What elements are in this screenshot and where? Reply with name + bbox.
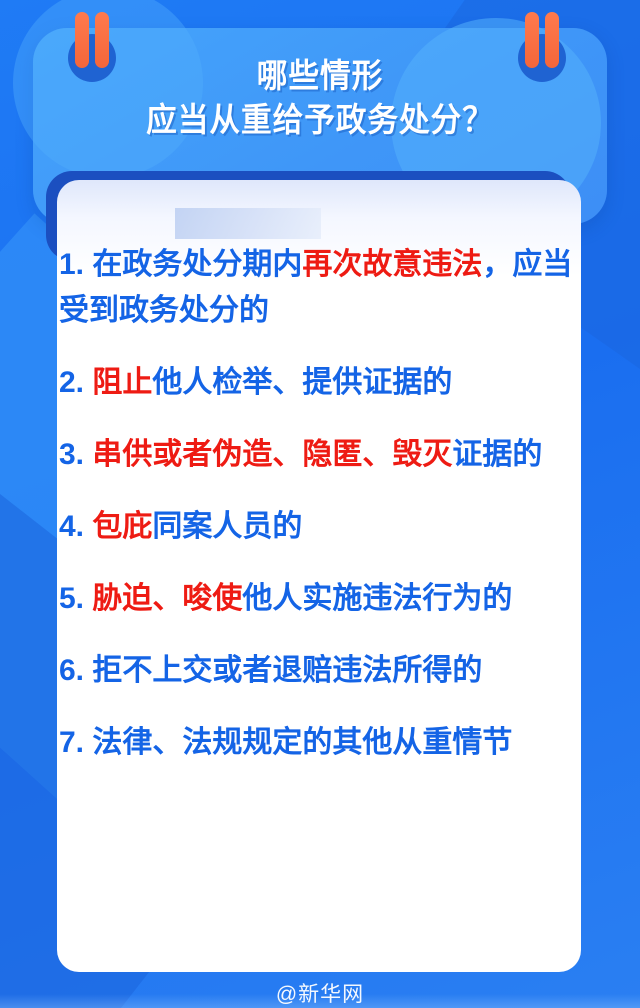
list-item-number: 6. — [59, 654, 84, 687]
list-item-number: 2. — [59, 366, 84, 399]
list-item-text: 他人实施违法行为的 — [242, 582, 512, 615]
list-item-number: 1. — [59, 248, 84, 281]
list-item: 3. 串供或者伪造、隐匿、毁灭证据的 — [59, 432, 579, 478]
list-item-number: 3. — [59, 438, 84, 471]
provisions-list: 1. 在政务处分期内再次故意违法，应当受到政务处分的2. 阻止他人检举、提供证据… — [59, 242, 579, 766]
list-item-text: 法律、法规规定的其他从重情节 — [84, 726, 512, 759]
list-item: 6. 拒不上交或者退赔违法所得的 — [59, 648, 579, 694]
list-item-text: 同案人员的 — [152, 510, 302, 543]
list-item-highlight-text: 阻止 — [92, 366, 152, 399]
list-item-highlight-text: 再次故意违法 — [302, 248, 482, 281]
list-item-number: 7. — [59, 726, 84, 759]
list-item: 7. 法律、法规规定的其他从重情节 — [59, 720, 579, 766]
list-item-number: 4. — [59, 510, 84, 543]
card-placeholder-block — [175, 208, 321, 239]
list-item: 1. 在政务处分期内再次故意违法，应当受到政务处分的 — [59, 242, 579, 334]
list-item-highlight-text: 串供或者伪造、隐匿、毁灭 — [92, 438, 452, 471]
list-item-highlight-text: 胁迫、唆使 — [92, 582, 242, 615]
list-item: 2. 阻止他人检举、提供证据的 — [59, 360, 579, 406]
watermark-label: @新华网 — [0, 978, 640, 1008]
title-line-1: 哪些情形 — [22, 54, 617, 98]
list-item-text: 证据的 — [452, 438, 542, 471]
list-item-text: 拒不上交或者退赔违法所得的 — [84, 654, 482, 687]
list-item-text: 在政务处分期内 — [84, 248, 302, 281]
infographic-poster: 哪些情形 应当从重给予政务处分？ 1. 在政务处分期内再次故意违法，应当受到政务… — [0, 0, 640, 1008]
list-item-number: 5. — [59, 582, 84, 615]
content-card: 1. 在政务处分期内再次故意违法，应当受到政务处分的2. 阻止他人检举、提供证据… — [57, 180, 581, 972]
list-item-text: 他人检举、提供证据的 — [152, 366, 452, 399]
list-item: 4. 包庇同案人员的 — [59, 504, 579, 550]
title-line-2: 应当从重给予政务处分？ — [22, 98, 617, 142]
list-item: 5. 胁迫、唆使他人实施违法行为的 — [59, 576, 579, 622]
poster-title: 哪些情形 应当从重给予政务处分？ — [0, 54, 640, 142]
list-item-highlight-text: 包庇 — [92, 510, 152, 543]
